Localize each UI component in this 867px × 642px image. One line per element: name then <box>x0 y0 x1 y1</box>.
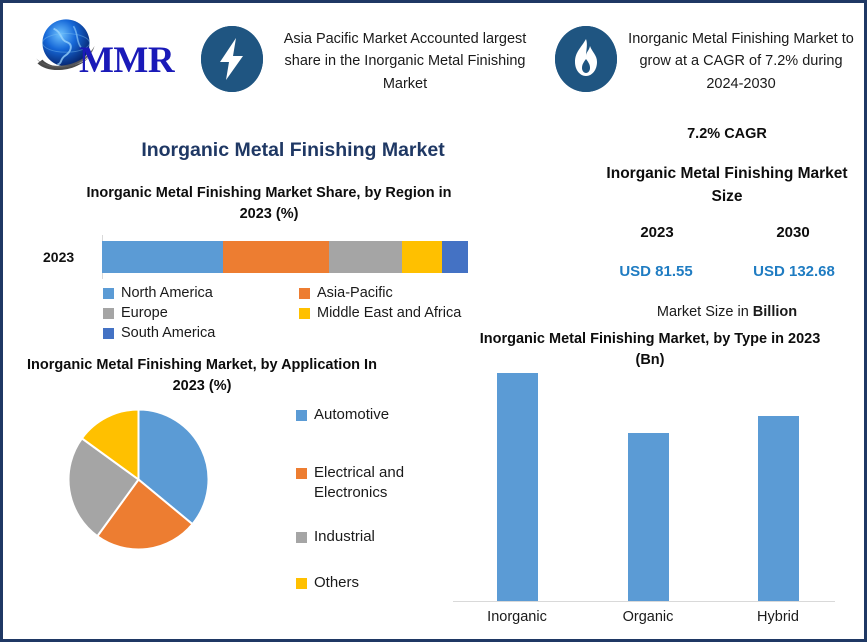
region-stacked-bar <box>102 241 468 273</box>
application-share-chart: Inorganic Metal Finishing Market, by App… <box>11 355 431 637</box>
legend-label: Middle East and Africa <box>317 305 461 321</box>
legend-swatch-icon <box>296 468 307 479</box>
legend-label: Europe <box>121 305 168 321</box>
legend-item[interactable]: Asia-Pacific <box>299 283 495 303</box>
legend-label: North America <box>121 285 213 301</box>
pie-legend-label: Electrical and Electronics <box>314 463 431 504</box>
pie-legend-label: Industrial <box>314 527 375 547</box>
pie-chart-title: Inorganic Metal Finishing Market, by App… <box>17 355 387 397</box>
type-axis-baseline <box>453 601 835 602</box>
region-category-label: 2023 <box>43 249 74 265</box>
market-size-panel: 7.2% CAGR Inorganic Metal Finishing Mark… <box>591 118 863 318</box>
type-breakdown-chart: Inorganic Metal Finishing Market, by Typ… <box>443 329 863 641</box>
legend-swatch-icon <box>299 308 310 319</box>
type-xaxis-label: Inorganic <box>462 609 572 625</box>
type-xaxis-label: Hybrid <box>723 609 833 625</box>
region-share-chart: Inorganic Metal Finishing Market Share, … <box>21 183 501 343</box>
legend-swatch-icon <box>296 578 307 589</box>
pie-legend-label: Others <box>314 573 359 593</box>
region-chart-title: Inorganic Metal Finishing Market Share, … <box>69 183 469 225</box>
region-segment-north-america <box>102 241 223 273</box>
region-segment-europe <box>329 241 402 273</box>
legend-item[interactable]: Europe <box>103 303 299 323</box>
market-size-unit-prefix: Market Size in <box>657 304 753 320</box>
legend-swatch-icon <box>299 288 310 299</box>
pie-legend-item[interactable]: Automotive <box>296 405 389 425</box>
legend-swatch-icon <box>103 328 114 339</box>
lightning-bolt-icon <box>201 26 263 92</box>
type-bar <box>628 433 669 601</box>
legend-item[interactable]: Middle East and Africa <box>299 303 495 323</box>
market-size-year-end: 2030 <box>743 224 843 241</box>
cagr-badge: 7.2% CAGR <box>591 126 863 142</box>
market-size-value-end: USD 132.68 <box>739 263 849 280</box>
logo-wordmark: MMR <box>79 39 174 82</box>
legend-item[interactable]: South America <box>103 323 299 343</box>
pie-legend-item[interactable]: Electrical and Electronics <box>296 463 431 504</box>
region-legend: North AmericaAsia-PacificEuropeMiddle Ea… <box>103 283 495 343</box>
type-bar <box>758 416 799 601</box>
page-title: Inorganic Metal Finishing Market <box>98 139 488 162</box>
pie-legend-item[interactable]: Industrial <box>296 527 375 547</box>
flame-icon <box>555 26 617 92</box>
pie-graphic <box>66 407 211 552</box>
market-size-unit-note: Market Size in Billion <box>601 304 853 320</box>
header-bar: MMR Asia Pacific Market Accounted larges… <box>3 3 864 111</box>
legend-item[interactable]: North America <box>103 283 299 303</box>
header-highlight-left: Asia Pacific Market Accounted largest sh… <box>266 28 544 95</box>
market-size-value-start: USD 81.55 <box>601 263 711 280</box>
legend-swatch-icon <box>103 288 114 299</box>
region-segment-middle-east-and-africa <box>402 241 442 273</box>
type-plot-area <box>453 373 853 601</box>
region-segment-asia-pacific <box>223 241 329 273</box>
pie-legend-item[interactable]: Others <box>296 573 359 593</box>
market-size-unit: Billion <box>753 304 797 320</box>
legend-label: Asia-Pacific <box>317 285 393 301</box>
type-xaxis-label: Organic <box>593 609 703 625</box>
market-size-title: Inorganic Metal Finishing Market Size <box>601 162 853 209</box>
legend-swatch-icon <box>103 308 114 319</box>
legend-swatch-icon <box>296 532 307 543</box>
pie-legend-label: Automotive <box>314 405 389 425</box>
mmr-logo[interactable]: MMR <box>17 11 195 99</box>
legend-label: South America <box>121 325 215 341</box>
header-highlight-right: Inorganic Metal Finishing Market to grow… <box>625 28 857 95</box>
type-bar <box>497 373 538 601</box>
type-chart-title: Inorganic Metal Finishing Market, by Typ… <box>465 329 835 371</box>
legend-swatch-icon <box>296 410 307 421</box>
infographic-canvas: MMR Asia Pacific Market Accounted larges… <box>0 0 867 642</box>
market-size-year-start: 2023 <box>607 224 707 241</box>
region-segment-south-america <box>442 241 468 273</box>
